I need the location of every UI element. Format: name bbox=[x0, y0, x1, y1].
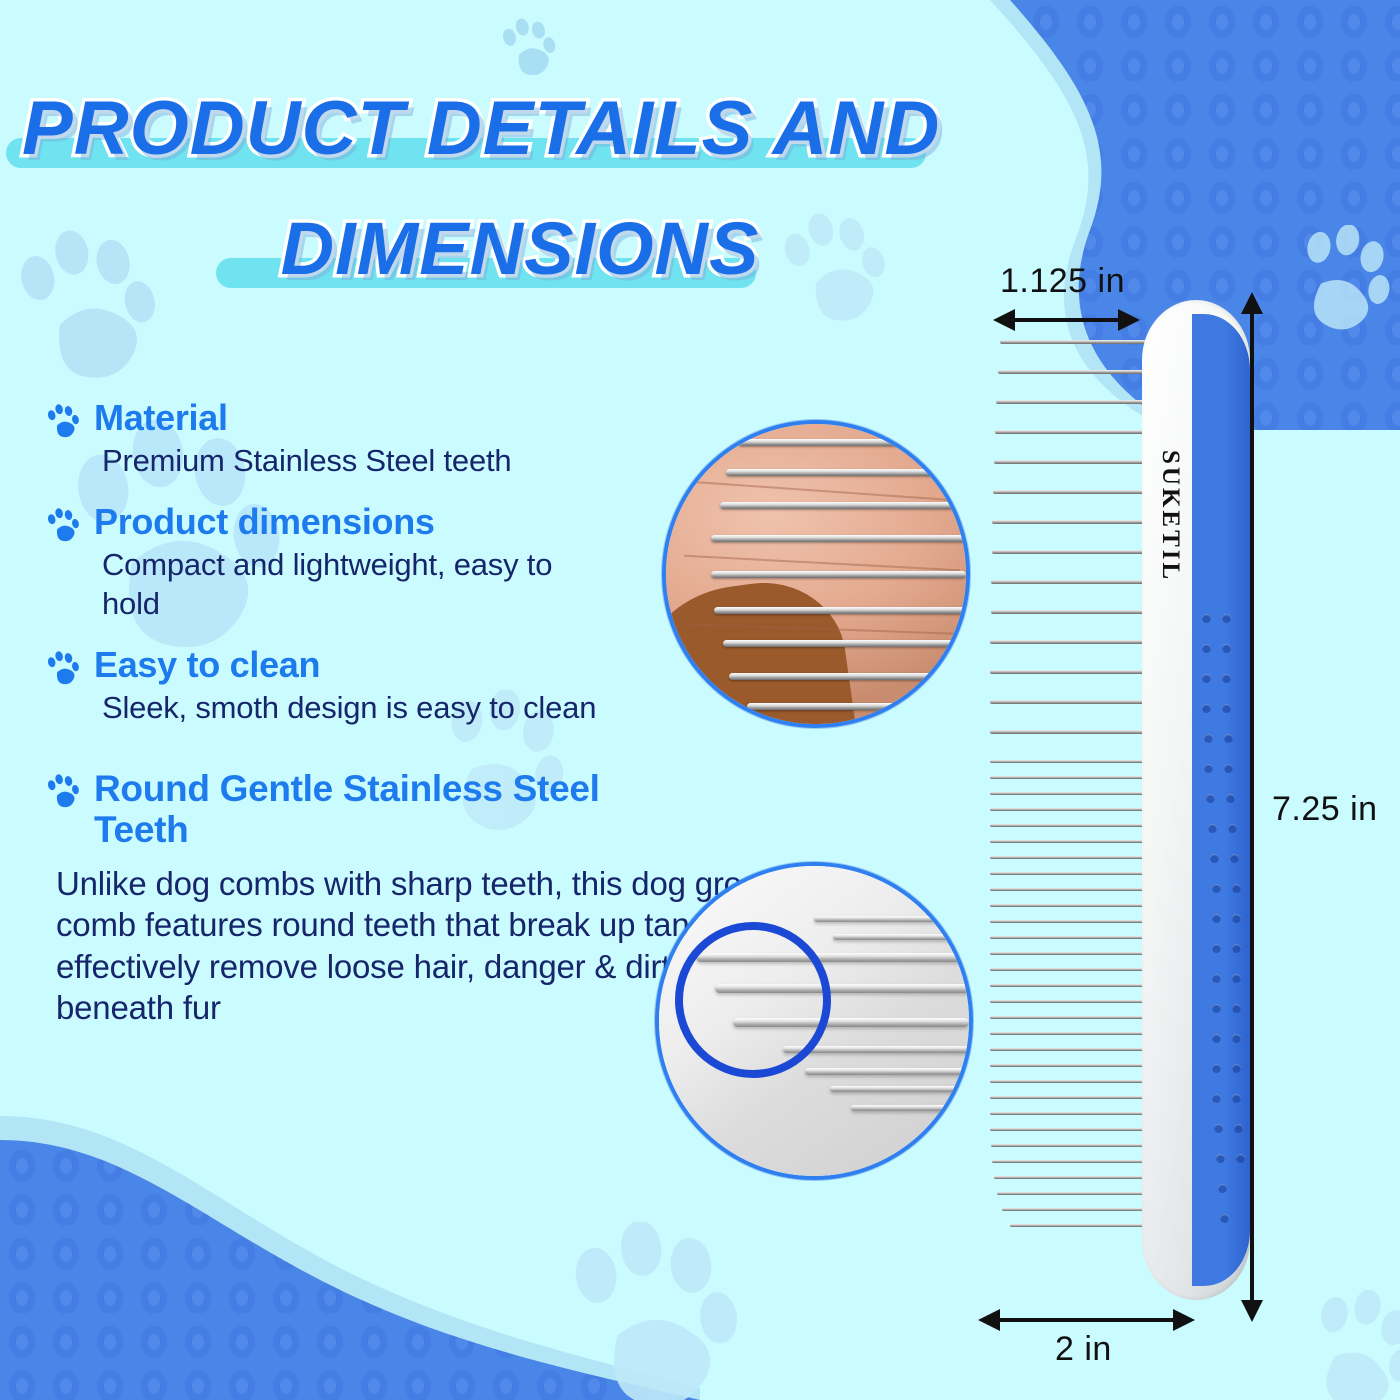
feature-heading: Product dimensions bbox=[94, 502, 435, 542]
paw-print-icon bbox=[46, 404, 80, 440]
paw-watermark-icon bbox=[560, 1222, 745, 1400]
arrow-left-icon bbox=[993, 309, 1015, 331]
dimension-label-height-right: 7.25 in bbox=[1272, 790, 1378, 829]
feature-heading: Round Gentle Stainless Steel Teeth bbox=[94, 768, 654, 851]
arrow-left-icon bbox=[978, 1309, 1000, 1331]
arrow-down-icon bbox=[1241, 1300, 1263, 1322]
magnifier-highlight-ring bbox=[675, 922, 831, 1078]
title-text-line-2: DIMENSIONS bbox=[281, 206, 760, 291]
feature-item-material: Material Premium Stainless Steel teeth bbox=[46, 398, 686, 480]
arrow-right-icon bbox=[1118, 309, 1140, 331]
feature-body: Sleek, smoth design is easy to clean bbox=[102, 689, 602, 727]
page-title: PRODUCT DETAILS AND DIMENSIONS bbox=[0, 78, 980, 298]
feature-list: Material Premium Stainless Steel teeth P… bbox=[46, 398, 686, 1043]
title-line-2: DIMENSIONS bbox=[0, 198, 980, 298]
product-image-comb: SUKETIL bbox=[990, 300, 1250, 1300]
title-text-line-1: PRODUCT DETAILS AND bbox=[22, 85, 940, 172]
dimension-label-width-top: 1.125 in bbox=[1000, 262, 1125, 301]
arrow-up-icon bbox=[1241, 292, 1263, 314]
dimension-label-width-bottom: 2 in bbox=[1055, 1330, 1112, 1369]
inset-photo-comb-teeth-in-hand bbox=[662, 420, 970, 728]
feature-item-easy-to-clean: Easy to clean Sleek, smoth design is eas… bbox=[46, 645, 686, 727]
comb-handle: SUKETIL bbox=[1142, 300, 1250, 1300]
arrow-right-icon bbox=[1173, 1309, 1195, 1331]
feature-body: Premium Stainless Steel teeth bbox=[102, 442, 686, 480]
paw-watermark-icon bbox=[500, 18, 558, 80]
feature-item-round-gentle-teeth: Round Gentle Stainless Steel Teeth Unlik… bbox=[46, 768, 686, 1029]
title-line-1: PRODUCT DETAILS AND bbox=[0, 78, 980, 178]
paw-watermark-icon bbox=[1290, 225, 1395, 337]
feature-heading: Material bbox=[94, 398, 228, 438]
brand-label: SUKETIL bbox=[1156, 450, 1184, 582]
inset-photo-rounded-tooth-tips bbox=[655, 862, 973, 1180]
dimension-line-width-top bbox=[1000, 318, 1130, 322]
feature-item-product-dimensions: Product dimensions Compact and lightweig… bbox=[46, 502, 686, 623]
infographic-canvas: PRODUCT DETAILS AND DIMENSIONS Material … bbox=[0, 0, 1400, 1400]
feature-heading: Easy to clean bbox=[94, 645, 320, 685]
feature-body: Compact and lightweight, easy to hold bbox=[102, 546, 602, 623]
dimension-line-height-right bbox=[1250, 310, 1254, 1310]
paw-print-icon bbox=[46, 508, 80, 544]
paw-watermark-icon bbox=[1300, 1290, 1400, 1400]
paw-print-icon bbox=[46, 774, 80, 810]
rubber-grip bbox=[1192, 314, 1250, 1286]
paw-print-icon bbox=[46, 651, 80, 687]
dimension-line-width-bottom bbox=[985, 1318, 1185, 1322]
